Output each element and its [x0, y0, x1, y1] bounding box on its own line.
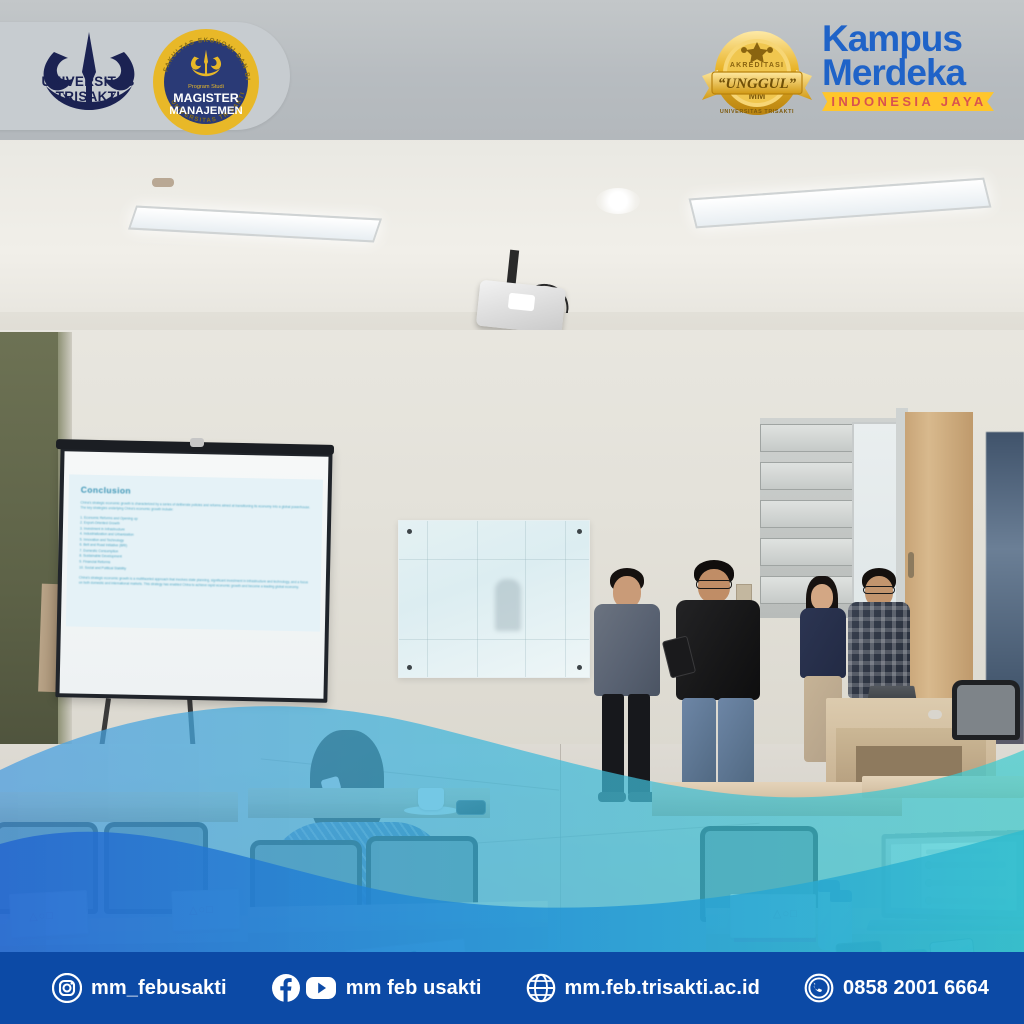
akreditasi-unggul-badge-icon: AKREDITASI MM UNIVERSITAS TRISAKTI “UNGG…	[698, 20, 816, 130]
slide-closing-text: China's strategic economic growth is a m…	[79, 576, 309, 591]
lectern-mouse[interactable]	[928, 710, 942, 719]
slide-bullet-list: 1. Economic Reforms and Opening up 2. Ex…	[79, 515, 310, 575]
promo-card: UNIVERSITAS TRISAKTI FAKULTAS EKONOMI DA…	[0, 0, 1024, 1024]
svg-text:Program Studi: Program Studi	[188, 84, 224, 90]
projection-screen-knob	[190, 438, 204, 447]
glasses-icon	[863, 586, 895, 594]
glass-whiteboard	[398, 520, 590, 678]
youtube-icon[interactable]	[305, 976, 337, 1000]
footer-item-website[interactable]: mm.feb.trisakti.ac.id	[526, 973, 761, 1003]
svg-text:“UNGGUL”: “UNGGUL”	[718, 76, 797, 92]
ceiling-downlight-1	[596, 188, 640, 214]
shirt	[594, 604, 660, 696]
footer-item-whatsapp[interactable]: 0858 2001 6664	[804, 973, 989, 1003]
classroom-photo: Conclusion China's strategic economic gr…	[0, 132, 1024, 968]
desk-far-right	[862, 776, 1024, 798]
universitas-trisakti-label: UNIVERSITAS TRISAKTI	[12, 74, 164, 104]
coffee-cup	[418, 788, 444, 810]
whatsapp-icon[interactable]	[804, 973, 834, 1003]
facebook-icon[interactable]	[271, 973, 301, 1003]
navy-top	[800, 608, 846, 678]
footer-social-handle: mm feb usakti	[346, 977, 482, 1000]
head	[811, 584, 833, 610]
snack-box: △○□	[9, 890, 89, 938]
kampus-merdeka-logo: Kampus Merdeka INDONESIA JAYA	[822, 22, 1002, 132]
svg-text:MANAJEMEN: MANAJEMEN	[169, 105, 242, 117]
footer-website-url: mm.feb.trisakti.ac.id	[565, 977, 761, 1000]
footer-contact-bar: mm_febusakti mm feb usakti	[0, 952, 1024, 1024]
smoke-detector-icon	[152, 178, 174, 187]
snack-box: △○□	[171, 889, 240, 931]
svg-text:UNIVERSITAS TRISAKTI: UNIVERSITAS TRISAKTI	[720, 109, 794, 115]
green-side-wall	[0, 332, 66, 802]
office-chair[interactable]	[952, 680, 1020, 740]
svg-text:AKREDITASI: AKREDITASI	[730, 62, 784, 69]
ceiling-projector	[476, 280, 566, 335]
instagram-icon[interactable]	[52, 973, 82, 1003]
footer-instagram-handle: mm_febusakti	[91, 977, 227, 1000]
kampus-merdeka-line1: Kampus	[822, 22, 1002, 56]
footer-item-instagram[interactable]: mm_febusakti	[52, 973, 227, 1003]
magister-manajemen-seal-icon: FAKULTAS EKONOMI DAN BISNIS UNIVERSITAS …	[152, 28, 260, 136]
whiteboard-reflection	[495, 579, 521, 631]
footer-whatsapp-number: 0858 2001 6664	[843, 977, 989, 1000]
footer-item-social[interactable]: mm feb usakti	[271, 973, 482, 1003]
attendee-laptop[interactable]	[876, 832, 1024, 938]
door-handle[interactable]	[908, 552, 914, 578]
presentation-slide: Conclusion China's strategic economic gr…	[66, 474, 323, 631]
header-bar: UNIVERSITAS TRISAKTI FAKULTAS EKONOMI DA…	[0, 0, 1024, 140]
kampus-merdeka-tagline: INDONESIA JAYA	[822, 92, 994, 111]
slide-intro-text: China's strategic economic growth is cha…	[80, 501, 310, 516]
snack-box: △○□	[730, 894, 816, 938]
phone-on-desk[interactable]	[456, 800, 486, 815]
svg-text:MAGISTER: MAGISTER	[173, 91, 238, 105]
projection-screen: Conclusion China's strategic economic gr…	[59, 451, 328, 698]
plaid-shirt	[848, 602, 910, 698]
slide-title: Conclusion	[81, 485, 311, 500]
globe-icon[interactable]	[526, 973, 556, 1003]
glasses-icon	[696, 580, 732, 589]
kampus-merdeka-line2: Merdeka	[822, 56, 1002, 90]
